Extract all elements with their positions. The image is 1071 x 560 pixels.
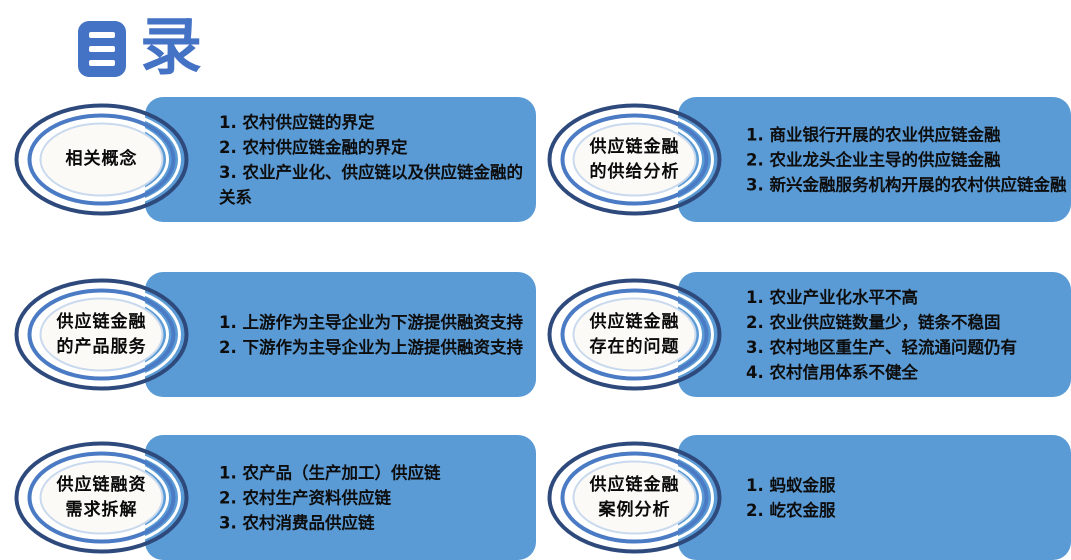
list-item: 2. 下游作为主导企业为上游提供融资支持 xyxy=(219,335,532,360)
list-item: 1. 农业产业化水平不高 xyxy=(746,285,1067,310)
toc-grid: 1. 农村供应链的界定 2. 农村供应链金融的界定 3. 农业产业化、供应链以及… xyxy=(0,0,1071,560)
list-item: 1. 蚂蚁金服 xyxy=(746,473,1067,498)
badge-ellipse-rings xyxy=(14,103,189,216)
toc-entry-panel: 1. 农产品（生产加工）供应链 2. 农村生产资料供应链 3. 农村消费品供应链 xyxy=(145,435,536,560)
list-item: 2. 农业供应链数量少，链条不稳固 xyxy=(746,310,1067,335)
list-item: 2. 屹农金服 xyxy=(746,498,1067,523)
list-item: 2. 农村供应链金融的界定 xyxy=(219,135,532,160)
toc-entry[interactable]: 1. 农产品（生产加工）供应链 2. 农村生产资料供应链 3. 农村消费品供应链… xyxy=(14,435,536,560)
toc-entry-badge[interactable]: 供应链金融 的供给分析 xyxy=(547,103,722,216)
toc-entry[interactable]: 1. 上游作为主导企业为下游提供融资支持 2. 下游作为主导企业为上游提供融资支… xyxy=(14,272,536,397)
toc-entry-item-list: 1. 上游作为主导企业为下游提供融资支持 2. 下游作为主导企业为上游提供融资支… xyxy=(219,310,532,360)
list-item: 3. 农村地区重生产、轻流通问题仍有 xyxy=(746,335,1067,360)
toc-entry-panel: 1. 农业产业化水平不高 2. 农业供应链数量少，链条不稳固 3. 农村地区重生… xyxy=(678,272,1071,397)
toc-entry-item-list: 1. 农村供应链的界定 2. 农村供应链金融的界定 3. 农业产业化、供应链以及… xyxy=(219,110,532,210)
list-item: 3. 新兴金融服务机构开展的农村供应链金融 xyxy=(746,172,1067,197)
toc-entry-badge[interactable]: 供应链金融 案例分析 xyxy=(547,441,722,554)
toc-entry-panel: 1. 蚂蚁金服 2. 屹农金服 xyxy=(678,435,1071,560)
toc-entry-panel: 1. 上游作为主导企业为下游提供融资支持 2. 下游作为主导企业为上游提供融资支… xyxy=(145,272,536,397)
toc-entry[interactable]: 1. 商业银行开展的农业供应链金融 2. 农业龙头企业主导的供应链金融 3. 新… xyxy=(547,97,1071,222)
badge-ellipse-rings xyxy=(547,441,722,554)
toc-entry-badge[interactable]: 供应链融资 需求拆解 xyxy=(14,441,189,554)
list-item: 3. 农村消费品供应链 xyxy=(219,510,532,535)
toc-entry-item-list: 1. 农产品（生产加工）供应链 2. 农村生产资料供应链 3. 农村消费品供应链 xyxy=(219,460,532,535)
list-item: 1. 农村供应链的界定 xyxy=(219,110,532,135)
list-item: 1. 上游作为主导企业为下游提供融资支持 xyxy=(219,310,532,335)
badge-ellipse-rings xyxy=(14,441,189,554)
badge-ellipse-rings xyxy=(547,103,722,216)
list-item: 4. 农村信用体系不健全 xyxy=(746,360,1067,385)
toc-entry-badge[interactable]: 供应链金融 的产品服务 xyxy=(14,278,189,391)
toc-entry-item-list: 1. 蚂蚁金服 2. 屹农金服 xyxy=(746,473,1067,523)
badge-ellipse-rings xyxy=(14,278,189,391)
toc-entry[interactable]: 1. 农村供应链的界定 2. 农村供应链金融的界定 3. 农业产业化、供应链以及… xyxy=(14,97,536,222)
toc-entry-item-list: 1. 商业银行开展的农业供应链金融 2. 农业龙头企业主导的供应链金融 3. 新… xyxy=(746,122,1067,197)
list-item: 2. 农村生产资料供应链 xyxy=(219,485,532,510)
toc-entry[interactable]: 1. 蚂蚁金服 2. 屹农金服 供应链金融 案例分析 xyxy=(547,435,1071,560)
list-item: 3. 农业产业化、供应链以及供应链金融的关系 xyxy=(219,160,532,210)
toc-entry[interactable]: 1. 农业产业化水平不高 2. 农业供应链数量少，链条不稳固 3. 农村地区重生… xyxy=(547,272,1071,397)
list-item: 1. 农产品（生产加工）供应链 xyxy=(219,460,532,485)
toc-entry-badge[interactable]: 相关概念 xyxy=(14,103,189,216)
toc-entry-panel: 1. 农村供应链的界定 2. 农村供应链金融的界定 3. 农业产业化、供应链以及… xyxy=(145,97,536,222)
toc-entry-badge[interactable]: 供应链金融 存在的问题 xyxy=(547,278,722,391)
list-item: 1. 商业银行开展的农业供应链金融 xyxy=(746,122,1067,147)
toc-entry-panel: 1. 商业银行开展的农业供应链金融 2. 农业龙头企业主导的供应链金融 3. 新… xyxy=(678,97,1071,222)
list-item: 2. 农业龙头企业主导的供应链金融 xyxy=(746,147,1067,172)
toc-entry-item-list: 1. 农业产业化水平不高 2. 农业供应链数量少，链条不稳固 3. 农村地区重生… xyxy=(746,285,1067,385)
badge-ellipse-rings xyxy=(547,278,722,391)
